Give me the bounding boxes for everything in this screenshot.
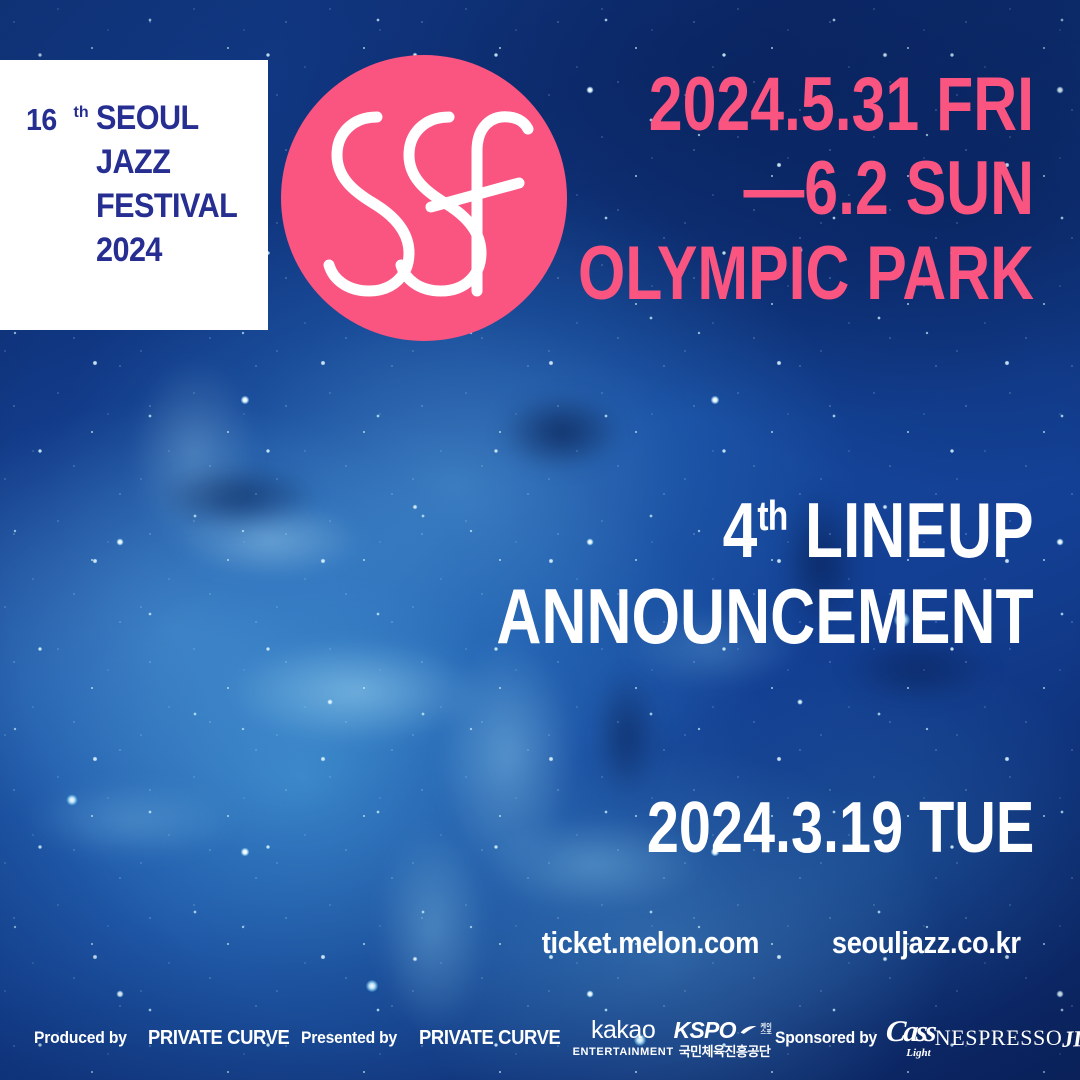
festival-name-line-4: 2024	[96, 233, 237, 267]
private-curve-logo-presented: PRIVATE CURVE	[419, 1027, 560, 1050]
url-row: ticket.melon.com seouljazz.co.kr	[527, 925, 1034, 961]
festival-title-box: 16 th SEOUL JAZZ FESTIVAL 2024	[0, 60, 268, 330]
cass-light-logo: Cass Light	[886, 1017, 934, 1059]
festival-name-line-3: FESTIVAL	[96, 189, 237, 223]
lineup-ordinal-suffix: th	[758, 492, 788, 539]
ticketing-url-link[interactable]: ticket.melon.com	[541, 925, 758, 961]
festival-name-lines: SEOUL JAZZ FESTIVAL 2024	[96, 101, 253, 267]
kspo-mark-subtext: 케이스포	[761, 1024, 776, 1036]
nespresso-logo: NESPRESSO	[935, 1025, 1063, 1051]
festival-name-line-1: SEOUL	[96, 101, 237, 135]
festival-name-line-2: JAZZ	[96, 145, 237, 179]
festival-poster: 16 th SEOUL JAZZ FESTIVAL 2024	[0, 0, 1080, 1080]
lineup-heading-word: LINEUP	[788, 486, 1034, 574]
sponsored-by-group: Sponsored by	[775, 1028, 886, 1048]
sponsored-by-label: Sponsored by	[775, 1028, 877, 1048]
cass-wordmark: Cass	[885, 1017, 935, 1047]
kspo-wordmark: KSPO	[674, 1019, 736, 1042]
presented-by-label: Presented by	[301, 1028, 397, 1048]
lineup-ordinal-number: 4	[723, 486, 758, 574]
private-curve-logo-produced: PRIVATE CURVE	[148, 1027, 289, 1050]
kspo-logo: KSPO 케이스포 국민체육진흥공단	[674, 1019, 776, 1058]
kakao-wordmark: kakao	[591, 1018, 655, 1043]
cass-light-label: Light	[906, 1048, 930, 1059]
announcement-date-block: 2024.3.19 TUE	[550, 792, 1034, 864]
sponsor-bar: Produced by PRIVATE CURVE Presented by P…	[0, 996, 1080, 1080]
festival-date-line-2: —6.2 SUN	[578, 152, 1034, 226]
presented-by-group: Presented by PRIVATE CURVE	[301, 1027, 572, 1050]
jim-beam-logo: JIM BEAM	[1062, 1023, 1080, 1053]
sjf-monogram-icon	[281, 55, 567, 341]
lineup-heading-line-2: ANNOUNCEMENT	[497, 578, 1034, 654]
festival-venue: OLYMPIC PARK	[578, 237, 1034, 311]
lineup-announcement-heading: 4th LINEUP ANNOUNCEMENT	[362, 492, 1034, 655]
produced-by-label: Produced by	[34, 1028, 127, 1048]
kspo-korean-name: 국민체육진흥공단	[679, 1045, 771, 1058]
kakao-entertainment-label: ENTERTAINMENT	[573, 1047, 674, 1058]
kspo-swoosh-icon	[740, 1023, 757, 1037]
lineup-heading-line-1: 4th LINEUP	[497, 492, 1034, 568]
official-site-url-link[interactable]: seouljazz.co.kr	[832, 925, 1021, 961]
festival-date-line-1: 2024.5.31 FRI	[578, 68, 1034, 142]
produced-by-group: Produced by PRIVATE CURVE	[34, 1027, 301, 1050]
kakao-entertainment-logo: kakao ENTERTAINMENT	[573, 1018, 674, 1058]
announcement-date: 2024.3.19 TUE	[647, 792, 1034, 864]
edition-ordinal-suffix: th	[73, 105, 88, 121]
edition-number: 16	[26, 104, 57, 135]
sjf-logo-circle[interactable]	[281, 55, 567, 341]
